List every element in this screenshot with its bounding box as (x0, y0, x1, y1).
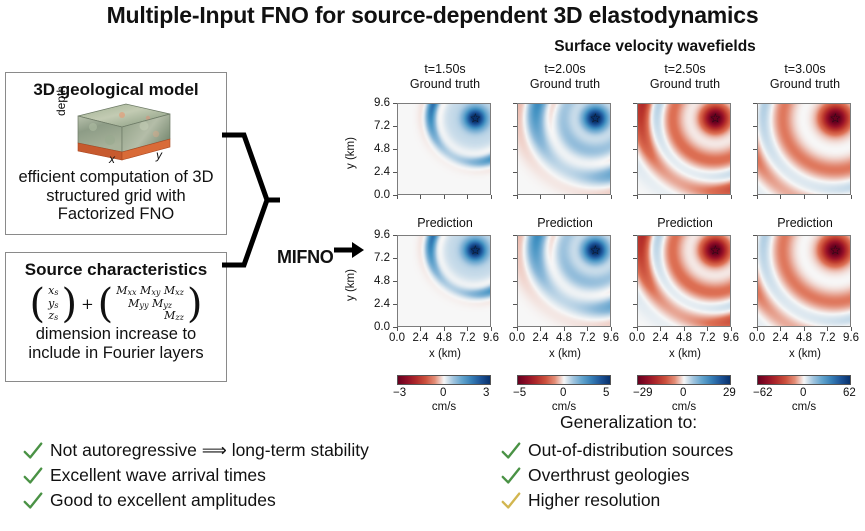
time-label: t=2.00s (517, 62, 613, 77)
y-tick-mark (513, 304, 517, 305)
x-tick-label: 7.2 (575, 332, 601, 344)
x-axis-label: x (km) (517, 348, 613, 360)
row-label-ground-truth: Ground truth (397, 77, 493, 92)
wavefield-heatmap (398, 104, 491, 195)
y-tick-mark (753, 126, 757, 127)
x-tick-label: 4.8 (671, 332, 697, 344)
x-tick-label: 9.6 (478, 332, 504, 344)
check-icon (22, 490, 44, 512)
x-tick-mark (444, 327, 445, 331)
x-tick-mark (660, 195, 661, 199)
colorbar-min-label: −29 (633, 387, 653, 399)
column-header-1: t=2.00sGround truth (517, 62, 613, 92)
row-label-ground-truth: Ground truth (757, 77, 853, 92)
y-tick-mark (633, 195, 637, 196)
wavefield-panel-tt=2.50s-ground-truth: ☆ (637, 103, 731, 195)
conclusions-left-list: Not autoregressive ⟹ long-term stability… (22, 440, 472, 515)
row-label-ground-truth: Ground truth (517, 77, 613, 92)
colorbar-min-label: −5 (513, 387, 526, 399)
x-tick-label: 4.8 (431, 332, 457, 344)
colorbar-min-label: −3 (393, 387, 406, 399)
y-tick-mark (753, 281, 757, 282)
x-tick-mark (827, 327, 828, 331)
y-tick-mark (393, 258, 397, 259)
wavefield-panel-tt=2.50s-prediction: ☆ (637, 235, 731, 327)
y-tick-label: 7.2 (360, 120, 390, 132)
time-label: t=2.50s (637, 62, 733, 77)
colorbar-1 (517, 375, 611, 385)
y-tick-mark (513, 149, 517, 150)
wavefield-panel-tt=3.00s-ground-truth: ☆ (757, 103, 851, 195)
x-tick-mark (757, 327, 758, 331)
wavefield-grid: t=1.50sGround truthPrediction☆9.67.24.82… (0, 0, 865, 400)
conclusion-right-item-label: Higher resolution (528, 490, 660, 511)
column-header-3: t=3.00sGround truth (757, 62, 853, 92)
y-tick-label: 7.2 (360, 252, 390, 264)
colorbar-unit-label: cm/s (397, 401, 491, 413)
y-tick-mark (513, 327, 517, 328)
colorbar-min-label: −62 (753, 387, 773, 399)
wavefield-heatmap (638, 236, 731, 327)
x-tick-label: 2.4 (768, 332, 794, 344)
y-tick-mark (633, 149, 637, 150)
y-tick-mark (633, 281, 637, 282)
x-tick-mark (444, 195, 445, 199)
x-tick-mark (780, 195, 781, 199)
check-icon (22, 440, 44, 462)
colorbar-max-label: 29 (723, 387, 736, 399)
x-tick-mark (851, 195, 852, 199)
y-tick-mark (513, 195, 517, 196)
wavefield-panel-tt=3.00s-prediction: ☆ (757, 235, 851, 327)
x-tick-mark (731, 327, 732, 331)
x-axis-label: x (km) (637, 348, 733, 360)
wavefield-panel-tt=2.00s-ground-truth: ☆ (517, 103, 611, 195)
row-label-prediction: Prediction (637, 216, 733, 230)
x-tick-mark (780, 327, 781, 331)
x-tick-label: 9.6 (598, 332, 624, 344)
conclusion-left-item-2: Good to excellent amplitudes (22, 490, 472, 512)
x-tick-mark (397, 327, 398, 331)
conclusion-right-item-label: Out-of-distribution sources (528, 440, 733, 461)
x-tick-mark (611, 327, 612, 331)
colorbar-zero-label: 0 (680, 387, 686, 399)
check-icon-green (500, 465, 522, 487)
conclusion-left-item-label: Good to excellent amplitudes (50, 490, 276, 511)
x-tick-label: 7.2 (695, 332, 721, 344)
y-tick-label: 4.8 (360, 143, 390, 155)
check-icon-yellow (500, 490, 522, 512)
colorbar-zero-label: 0 (800, 387, 806, 399)
wavefield-heatmap (638, 104, 731, 195)
x-tick-label: 4.8 (791, 332, 817, 344)
check-icon-green (22, 440, 44, 462)
x-tick-mark (420, 195, 421, 199)
x-tick-label: 4.8 (551, 332, 577, 344)
wavefield-heatmap (518, 104, 611, 195)
x-tick-mark (804, 195, 805, 199)
conclusion-right-item-0: Out-of-distribution sources (500, 440, 860, 462)
x-tick-label: 7.2 (455, 332, 481, 344)
y-tick-mark (393, 281, 397, 282)
y-tick-mark (393, 327, 397, 328)
x-tick-label: 0.0 (744, 332, 770, 344)
wavefield-panel-tt=1.50s-ground-truth: ☆ (397, 103, 491, 195)
colorbar-zero-label: 0 (560, 387, 566, 399)
row-label-ground-truth: Ground truth (637, 77, 733, 92)
y-tick-mark (393, 195, 397, 196)
colorbar-unit-label: cm/s (757, 401, 851, 413)
row-label-prediction: Prediction (757, 216, 853, 230)
y-tick-mark (513, 126, 517, 127)
y-tick-mark (513, 172, 517, 173)
generalization-title: Generalization to: (560, 412, 697, 433)
time-label: t=3.00s (757, 62, 853, 77)
x-tick-label: 2.4 (528, 332, 554, 344)
x-tick-label: 7.2 (815, 332, 841, 344)
x-tick-mark (611, 195, 612, 199)
y-axis-label: y (km) (345, 137, 357, 169)
y-tick-mark (753, 103, 757, 104)
colorbar-2 (637, 375, 731, 385)
column-header-2: t=2.50sGround truth (637, 62, 733, 92)
y-tick-mark (753, 304, 757, 305)
column-header-0: t=1.50sGround truth (397, 62, 493, 92)
x-tick-mark (851, 327, 852, 331)
x-tick-label: 2.4 (408, 332, 434, 344)
x-tick-mark (757, 195, 758, 199)
row-label-prediction: Prediction (517, 216, 613, 230)
x-tick-mark (637, 327, 638, 331)
x-tick-label: 0.0 (384, 332, 410, 344)
colorbar-zero-label: 0 (440, 387, 446, 399)
y-tick-mark (393, 149, 397, 150)
x-tick-mark (660, 327, 661, 331)
y-tick-mark (393, 103, 397, 104)
y-tick-mark (633, 126, 637, 127)
x-tick-mark (827, 195, 828, 199)
x-tick-label: 9.6 (718, 332, 744, 344)
conclusion-left-item-1: Excellent wave arrival times (22, 465, 472, 487)
wavefield-heatmap (518, 236, 611, 327)
x-tick-mark (564, 195, 565, 199)
check-icon (500, 465, 522, 487)
y-tick-mark (633, 304, 637, 305)
x-tick-mark (467, 195, 468, 199)
y-tick-mark (753, 172, 757, 173)
x-tick-mark (540, 195, 541, 199)
y-tick-mark (393, 235, 397, 236)
x-axis-label: x (km) (757, 348, 853, 360)
check-icon (22, 465, 44, 487)
y-tick-label: 9.6 (360, 97, 390, 109)
y-tick-mark (393, 304, 397, 305)
check-icon-green (22, 465, 44, 487)
y-tick-label: 4.8 (360, 275, 390, 287)
x-tick-mark (587, 195, 588, 199)
y-axis-label: y (km) (345, 269, 357, 301)
colorbar-max-label: 5 (603, 387, 609, 399)
conclusion-right-item-label: Overthrust geologies (528, 465, 689, 486)
colorbar-0 (397, 375, 491, 385)
y-tick-mark (393, 172, 397, 173)
wavefield-heatmap (758, 236, 851, 327)
wavefield-heatmap (758, 104, 851, 195)
time-label: t=1.50s (397, 62, 493, 77)
x-tick-mark (564, 327, 565, 331)
y-tick-mark (633, 327, 637, 328)
conclusion-right-item-1: Overthrust geologies (500, 465, 860, 487)
y-tick-mark (753, 149, 757, 150)
x-tick-mark (517, 195, 518, 199)
conclusions-right-list: Out-of-distribution sourcesOverthrust ge… (500, 440, 860, 515)
y-tick-mark (633, 235, 637, 236)
y-tick-mark (633, 258, 637, 259)
y-tick-label: 2.4 (360, 298, 390, 310)
x-tick-mark (684, 327, 685, 331)
y-tick-label: 2.4 (360, 166, 390, 178)
y-tick-mark (753, 235, 757, 236)
x-tick-mark (420, 327, 421, 331)
x-tick-label: 2.4 (648, 332, 674, 344)
x-tick-mark (684, 195, 685, 199)
conclusion-left-item-label: Excellent wave arrival times (50, 465, 266, 486)
y-tick-mark (753, 195, 757, 196)
x-tick-mark (731, 195, 732, 199)
x-tick-mark (491, 195, 492, 199)
x-tick-label: 0.0 (624, 332, 650, 344)
y-tick-mark (753, 327, 757, 328)
x-tick-label: 9.6 (838, 332, 864, 344)
check-icon (500, 440, 522, 462)
check-icon-green (500, 440, 522, 462)
x-tick-label: 0.0 (504, 332, 530, 344)
wavefield-panel-tt=2.00s-prediction: ☆ (517, 235, 611, 327)
x-tick-mark (491, 327, 492, 331)
x-tick-mark (467, 327, 468, 331)
x-tick-mark (517, 327, 518, 331)
row-label-prediction: Prediction (397, 216, 493, 230)
x-tick-mark (707, 327, 708, 331)
y-tick-mark (633, 172, 637, 173)
x-tick-mark (637, 195, 638, 199)
colorbar-max-label: 3 (483, 387, 489, 399)
y-tick-label: 0.0 (360, 321, 390, 333)
conclusion-left-item-0: Not autoregressive ⟹ long-term stability (22, 440, 472, 462)
wavefield-heatmap (398, 236, 491, 327)
x-tick-mark (397, 195, 398, 199)
y-tick-mark (393, 126, 397, 127)
x-tick-mark (804, 327, 805, 331)
y-tick-label: 9.6 (360, 229, 390, 241)
colorbar-3 (757, 375, 851, 385)
check-icon (500, 490, 522, 512)
check-icon-green (22, 490, 44, 512)
y-tick-mark (513, 258, 517, 259)
y-tick-mark (633, 103, 637, 104)
x-tick-mark (707, 195, 708, 199)
y-tick-mark (753, 258, 757, 259)
y-tick-mark (513, 235, 517, 236)
colorbar-max-label: 62 (843, 387, 856, 399)
y-tick-mark (513, 103, 517, 104)
x-tick-mark (587, 327, 588, 331)
x-axis-label: x (km) (397, 348, 493, 360)
x-tick-mark (540, 327, 541, 331)
conclusion-right-item-2: Higher resolution (500, 490, 860, 512)
y-tick-label: 0.0 (360, 189, 390, 201)
conclusion-left-item-label: Not autoregressive ⟹ long-term stability (50, 440, 369, 461)
y-tick-mark (513, 281, 517, 282)
wavefield-panel-tt=1.50s-prediction: ☆ (397, 235, 491, 327)
